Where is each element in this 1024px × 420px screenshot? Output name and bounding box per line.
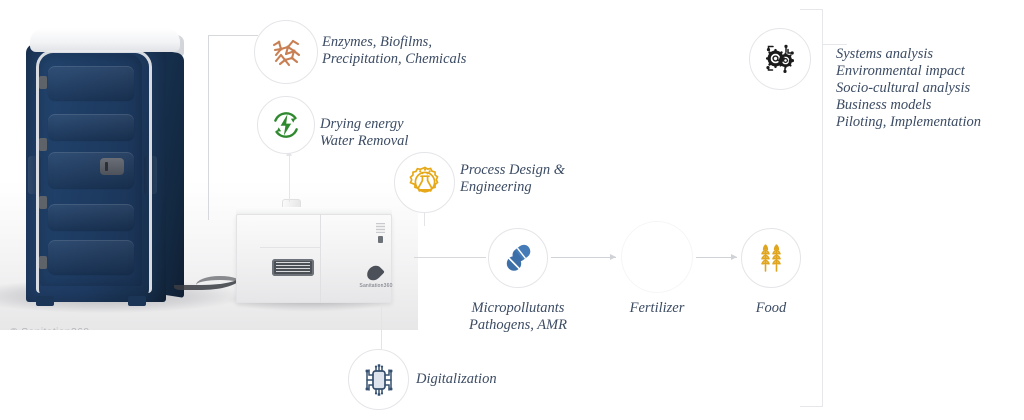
diagram-canvas: Sanitation360 © Sanitation360 — [0, 0, 1024, 420]
gears-network-icon — [761, 40, 799, 78]
toilet-door-frame — [36, 50, 152, 293]
toilet-roof — [30, 28, 180, 52]
node-enzymes-circle[interactable] — [254, 20, 318, 84]
toilet-hinge — [39, 256, 47, 269]
toilet-hinge — [39, 196, 47, 209]
node-micropollutants-label: Micropollutants Pathogens, AMR — [458, 300, 578, 334]
toilet-foot — [128, 296, 146, 306]
arrow-machine-to-drying-energy — [289, 150, 290, 202]
machine-panel-seam — [260, 247, 320, 248]
node-fertilizer-photo[interactable] — [622, 222, 692, 292]
wheat-icon — [754, 241, 788, 275]
toilet-hinge — [39, 138, 47, 151]
toilet-foot — [36, 296, 54, 306]
machine-button — [378, 236, 383, 243]
node-fertilizer-label: Fertilizer — [597, 300, 717, 317]
node-process-design-circle[interactable] — [394, 152, 455, 213]
machine-vent — [272, 259, 314, 276]
node-digitalization-circle[interactable] — [348, 349, 409, 410]
node-food-label: Food — [731, 300, 811, 317]
systems-bracket-line — [822, 9, 823, 407]
pills-icon — [501, 241, 535, 275]
machine-brand-logo: Sanitation360 — [362, 265, 388, 291]
recycle-energy-icon — [269, 108, 303, 142]
copyright-credit: © Sanitation360 — [10, 326, 89, 330]
node-systems-analysis-circle[interactable] — [749, 28, 811, 90]
node-food-circle[interactable] — [741, 228, 801, 288]
molecule-cluster-icon — [269, 35, 303, 69]
gear-flask-icon — [406, 164, 444, 202]
flame-icon — [364, 263, 385, 284]
node-micropollutants-circle[interactable] — [488, 228, 548, 288]
node-process-design-label: Process Design & Engineering — [460, 162, 565, 196]
drying-machine-image: Sanitation360 — [236, 199, 392, 305]
node-enzymes-label: Enzymes, Biofilms, Precipitation, Chemic… — [322, 34, 466, 68]
arrow-micropollutants-to-fertilizer — [551, 257, 616, 258]
connector-enzymes-horizontal — [208, 35, 258, 36]
node-drying-energy-circle[interactable] — [257, 96, 315, 154]
systems-bracket-tick — [823, 44, 847, 45]
connector-process-design — [424, 212, 425, 226]
systems-bracket-top — [800, 9, 823, 10]
connector-enzymes-vertical — [208, 35, 209, 220]
portable-toilet-image — [24, 28, 184, 306]
arrow-fertilizer-to-food — [696, 257, 737, 258]
toilet-hinge — [39, 76, 47, 89]
machine-panel-seam — [320, 214, 321, 303]
node-digitalization-label: Digitalization — [416, 371, 497, 388]
machine-brand-name: Sanitation360 — [356, 283, 396, 289]
circuit-chip-icon — [361, 362, 397, 398]
machine-control-strip — [376, 223, 385, 233]
toilet-door-handle — [100, 158, 124, 175]
node-drying-energy-label: Drying energy Water Removal — [320, 116, 408, 150]
systems-bracket-bottom — [800, 406, 823, 407]
connector-machine-to-micropollutants — [414, 257, 486, 258]
node-systems-analysis-label: Systems analysis Environmental impact So… — [836, 46, 981, 131]
connector-digitalization — [381, 305, 382, 349]
